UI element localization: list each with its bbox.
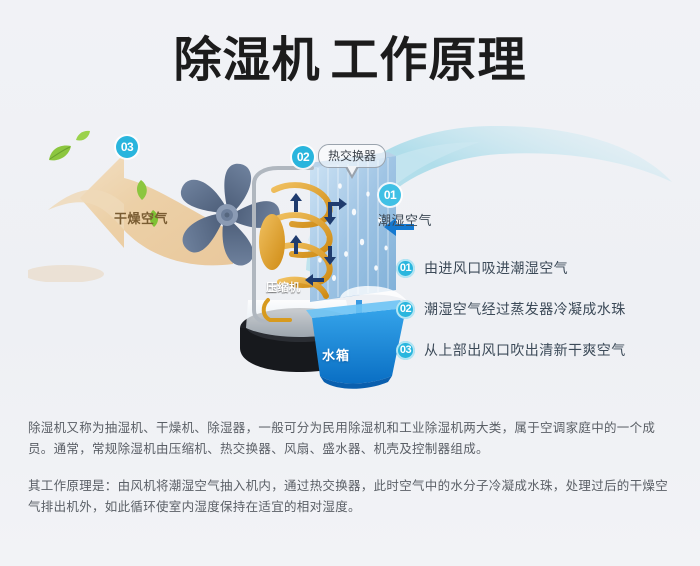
legend-text-02: 潮湿空气经过蒸发器冷凝成水珠 — [424, 299, 626, 319]
infographic-page: 除湿机工作原理 — [0, 0, 700, 566]
callout-heat-exchanger-label: 热交换器 — [328, 149, 376, 163]
label-humid-air: 潮湿空气 — [378, 210, 432, 229]
legend-badge-02: 02 — [396, 300, 415, 319]
diagram-badge-02: 02 — [292, 146, 314, 168]
leaf-icon — [135, 180, 150, 200]
description-paragraph-1: 除湿机又称为抽湿机、干燥机、除湿器，一般可分为民用除湿机和工业除湿机两大类，属于… — [28, 418, 678, 460]
legend-badge-01: 01 — [396, 259, 415, 278]
label-water-tank: 水箱 — [322, 345, 350, 364]
diagram-badge-03: 03 — [116, 136, 138, 158]
legend-item: 02 潮湿空气经过蒸发器冷凝成水珠 — [396, 299, 686, 319]
diagram-badge-01: 01 — [379, 184, 401, 206]
title-part-2: 工作原理 — [331, 34, 527, 87]
legend-badge-03: 03 — [396, 341, 415, 360]
description-paragraph-2: 其工作原理是：由风机将潮湿空气抽入机内，通过热交换器，此时空气中的水分子冷凝成水… — [28, 476, 678, 518]
page-title: 除湿机工作原理 — [0, 34, 700, 88]
label-compressor: 压缩机 — [266, 279, 301, 295]
leaf-icon — [75, 130, 91, 143]
callout-heat-exchanger: 热交换器 — [318, 144, 386, 168]
legend-text-03: 从上部出风口吹出清新干爽空气 — [424, 340, 626, 360]
legend-text-01: 由进风口吸进潮湿空气 — [424, 258, 568, 278]
title-part-1: 除湿机 — [173, 34, 320, 87]
legend-list: 01 由进风口吸进潮湿空气 02 潮湿空气经过蒸发器冷凝成水珠 03 从上部出风… — [396, 258, 686, 381]
legend-item: 03 从上部出风口吹出清新干爽空气 — [396, 340, 686, 360]
leaf-icon — [47, 144, 73, 164]
label-dry-air: 干燥空气 — [114, 208, 168, 227]
legend-item: 01 由进风口吸进潮湿空气 — [396, 258, 686, 278]
description-block: 除湿机又称为抽湿机、干燥机、除湿器，一般可分为民用除湿机和工业除湿机两大类，属于… — [28, 418, 678, 518]
callout-tail-icon — [345, 167, 359, 179]
